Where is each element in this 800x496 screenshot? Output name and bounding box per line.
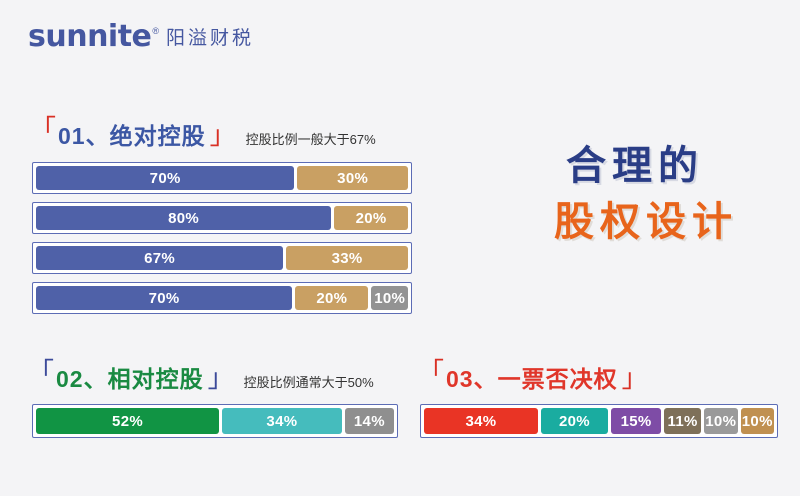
stacked-bar-row: 70% 20% 10% [32,282,412,314]
bar-segment: 67% [36,246,283,270]
page-title: 合理的 股权设计 [500,143,770,245]
bracket-open-icon: 「 [30,116,56,142]
registered-trademark-icon: ® [152,27,159,36]
bar-segment: 20% [541,408,608,434]
bracket-close-icon: 」 [622,365,648,391]
bar-segment: 10% [371,286,408,310]
stacked-bar-row: 80% 20% [32,202,412,234]
bar-segment: 20% [295,286,368,310]
bar-segment: 34% [222,408,342,434]
page-title-line-2: 股权设计 [522,199,770,245]
brand-logo: sunnite ® 阳溢财税 [28,22,254,52]
stacked-bar-row: 52% 34% 14% [32,404,398,438]
bar-segment: 52% [36,408,219,434]
bar-segment: 80% [36,206,331,230]
logo-chinese-name: 阳溢财税 [166,23,254,50]
stacked-bar-row: 70% 30% [32,162,412,194]
stacked-bar-row: 34% 20% 15% 11% 10% 10% [420,404,778,438]
section-header-02: 「 02、相对控股 」 控股比例通常大于50% [28,365,374,391]
bar-segment: 10% [741,408,775,434]
bar-segment: 10% [704,408,738,434]
bar-segment: 33% [286,246,408,270]
section-header-01: 「 01、绝对控股 」 控股比例一般大于67% [30,122,376,148]
section-subtitle-02: 控股比例通常大于50% [244,372,374,391]
bar-segment: 15% [611,408,661,434]
section-header-03: 「 03、一票否决权 」 [418,365,648,391]
stacked-bar-row: 67% 33% [32,242,412,274]
bracket-close-icon: 」 [210,122,236,148]
section-title-02: 02、相对控股 [56,368,204,391]
bracket-open-icon: 「 [28,359,54,385]
bracket-open-icon: 「 [418,359,444,385]
bar-segment: 11% [664,408,701,434]
section-title-01: 01、绝对控股 [58,125,206,148]
bar-segment: 14% [345,408,394,434]
bar-segment: 70% [36,166,294,190]
logo-wordmark: sunnite [28,22,151,52]
section-title-03: 03、一票否决权 [446,368,618,391]
bracket-close-icon: 」 [208,365,234,391]
bar-segment: 34% [424,408,538,434]
bar-segment: 20% [334,206,408,230]
bar-segment: 30% [297,166,408,190]
section-subtitle-01: 控股比例一般大于67% [246,129,376,148]
page-title-line-1: 合理的 [500,143,770,189]
bar-segment: 70% [36,286,292,310]
